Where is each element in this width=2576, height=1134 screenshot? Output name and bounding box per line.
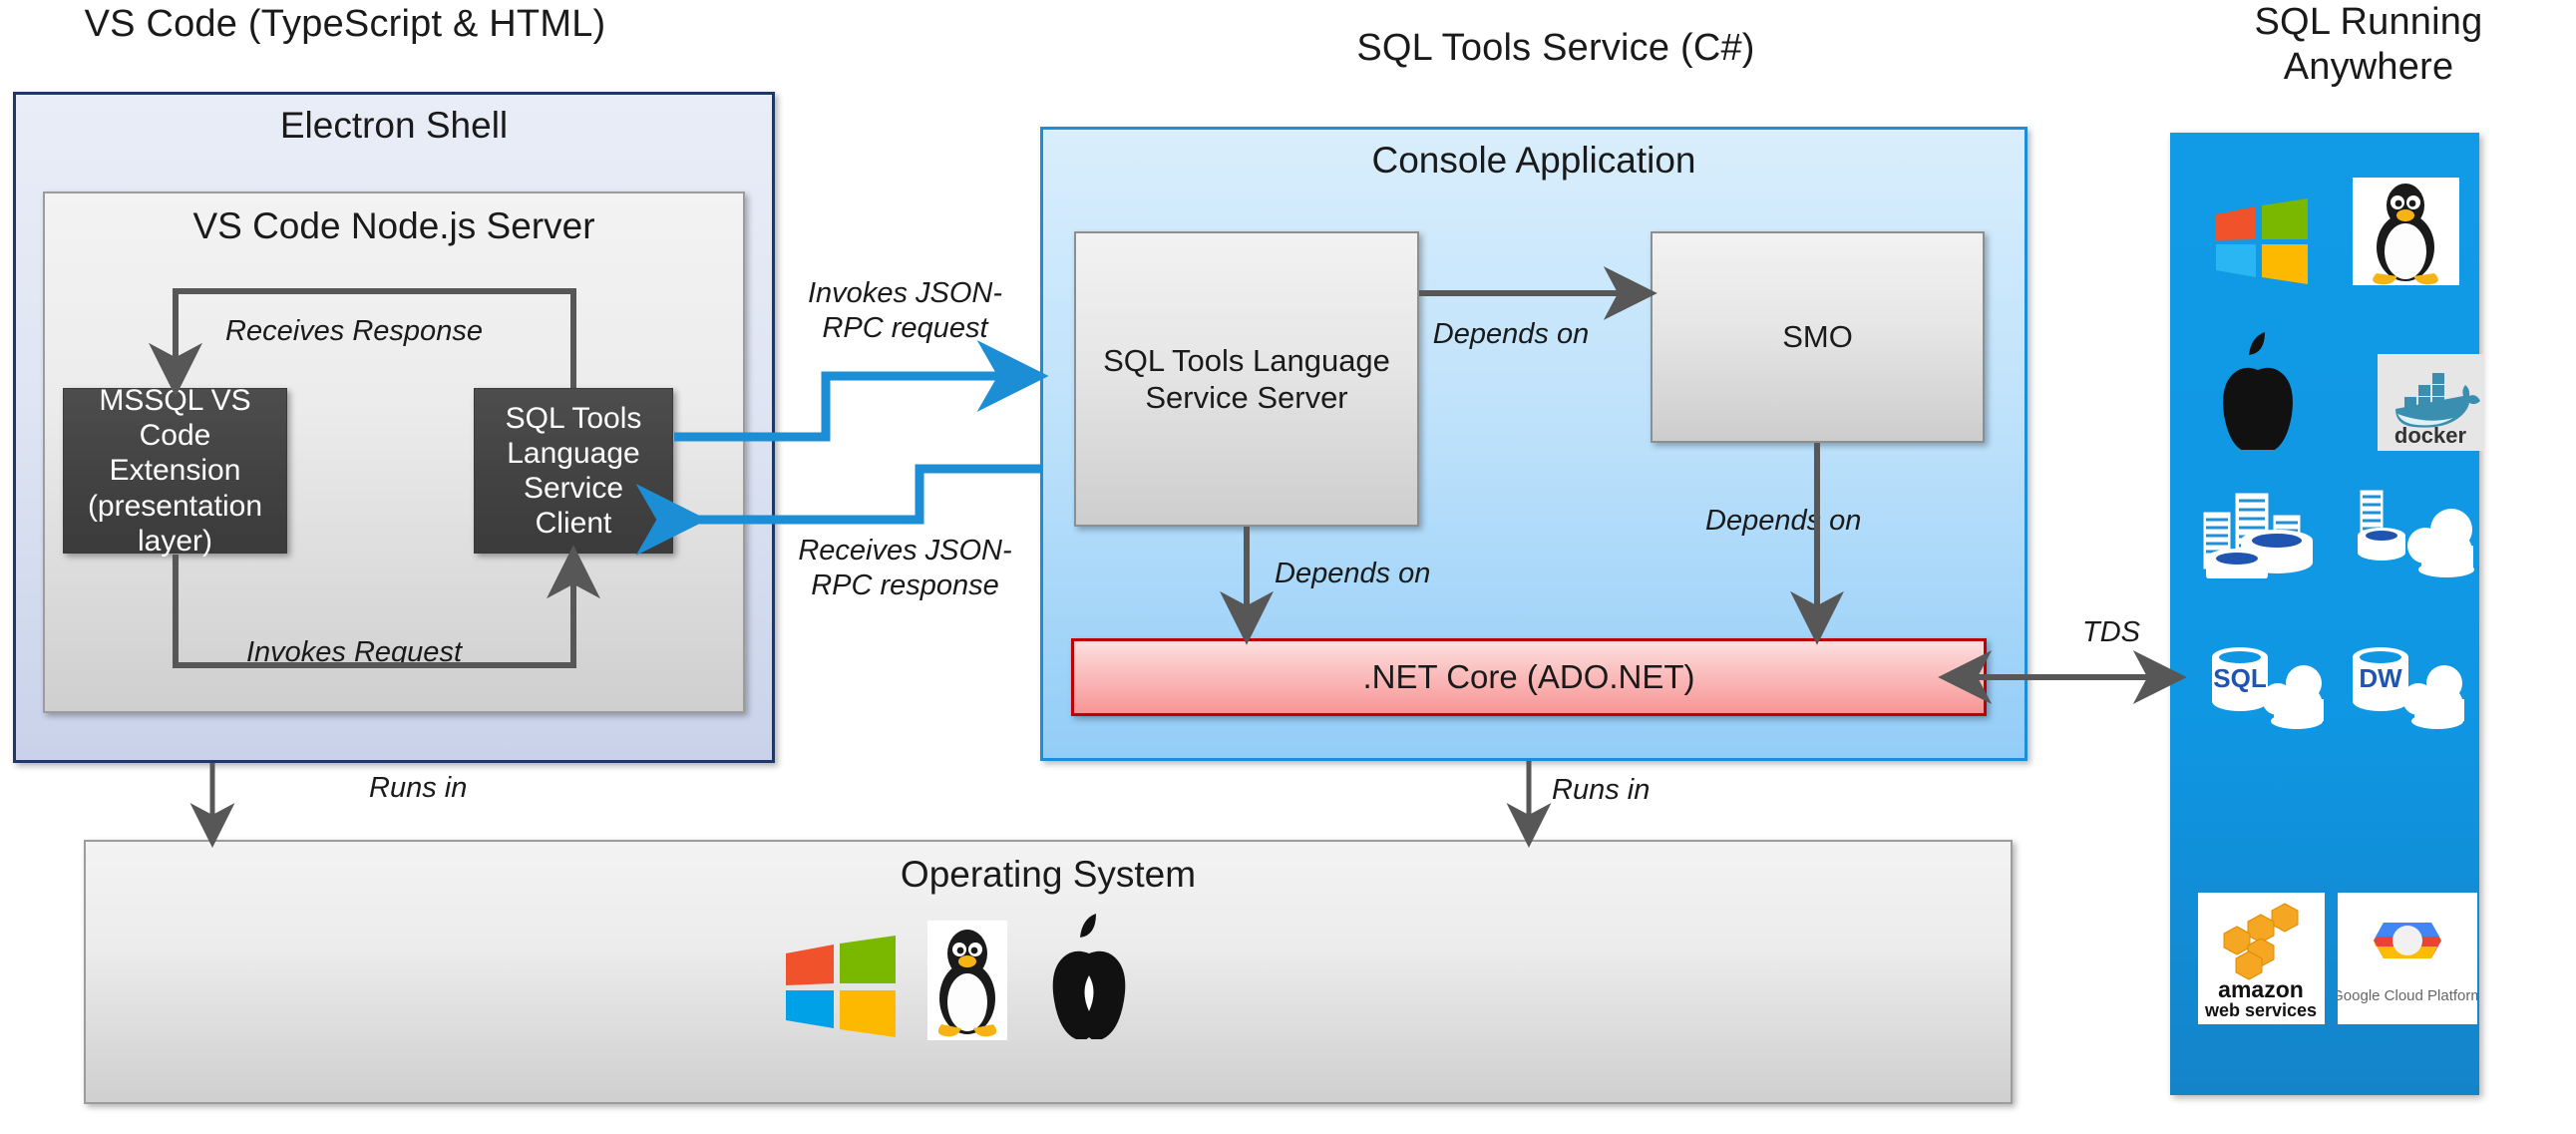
vscode-runs-in-label: Runs in	[369, 771, 568, 806]
sql-tools-language-service-server-label: SQL Tools Language Service Server	[1076, 342, 1417, 416]
azure-sql-label: SQL	[2213, 663, 2267, 693]
google-cloud-platform-icon: Google Cloud Platform	[2338, 893, 2477, 1024]
invokes-request-label: Invokes Request	[214, 635, 494, 670]
sql-tools-language-service-server-box[interactable]: SQL Tools Language Service Server	[1074, 231, 1419, 527]
sqltools-runs-in-label: Runs in	[1552, 773, 1731, 808]
dotnet-core-ado-net-box[interactable]: .NET Core (ADO.NET)	[1071, 638, 1987, 716]
azure-sql-database-icon: SQL	[2200, 643, 2332, 740]
receives-response-label: Receives Response	[214, 314, 494, 349]
smo-label: SMO	[1782, 318, 1853, 355]
mssql-vscode-extension-box[interactable]: MSSQL VS Code Extension (presentation la…	[63, 388, 287, 554]
depends-on-dotnet-left-label: Depends on	[1275, 557, 1474, 591]
depends-on-smo-label: Depends on	[1431, 317, 1591, 352]
azure-sql-data-warehouse-icon: DW	[2339, 643, 2473, 740]
aws-label-amazon: amazon	[2218, 976, 2304, 1002]
gcp-label: Google Cloud Platform	[2338, 987, 2477, 1004]
windows-logo-icon	[786, 936, 896, 1037]
azure-dw-label: DW	[2359, 663, 2402, 693]
depends-on-dotnet-right-label: Depends on	[1705, 504, 1905, 539]
aws-label-webservices: web services	[2204, 1000, 2317, 1020]
smo-box[interactable]: SMO	[1651, 231, 1985, 443]
apple-logo-icon	[1039, 914, 1139, 1039]
dotnet-core-ado-net-label: .NET Core (ADO.NET)	[1362, 658, 1694, 696]
operating-system-title: Operating System	[86, 854, 2011, 896]
mssql-vscode-extension-label: MSSQL VS Code Extension (presentation la…	[72, 383, 278, 558]
vscode-nodejs-server-title: VS Code Node.js Server	[45, 205, 743, 247]
architecture-diagram: VS Code (TypeScript & HTML) SQL Tools Se…	[0, 0, 2576, 1134]
sql-tools-language-service-client-label: SQL Tools Language Service Client	[483, 401, 664, 541]
invokes-json-rpc-request-label: Invokes JSON-RPC request	[798, 276, 1012, 346]
apple-logo-icon	[2210, 332, 2306, 450]
caption-vscode: VS Code (TypeScript & HTML)	[26, 2, 664, 47]
console-application-title: Console Application	[1043, 140, 2024, 182]
sql-tools-language-service-client-box[interactable]: SQL Tools Language Service Client	[474, 388, 673, 554]
on-premises-datacenter-icon	[2199, 479, 2329, 578]
docker-whale-icon: docker	[2378, 354, 2483, 451]
linux-penguin-icon	[2353, 178, 2459, 285]
windows-logo-icon	[2216, 198, 2308, 284]
tds-label: TDS	[2066, 615, 2156, 650]
docker-label: docker	[2394, 423, 2467, 448]
caption-sql-running-anywhere: SQL Running Anywhere	[2174, 0, 2563, 90]
hybrid-cloud-icon	[2352, 484, 2476, 578]
electron-shell-title: Electron Shell	[16, 105, 772, 147]
amazon-web-services-icon: amazon web services	[2198, 893, 2325, 1024]
caption-sql-tools-service: SQL Tools Service (C#)	[997, 26, 2114, 71]
linux-penguin-icon	[927, 921, 1007, 1040]
receives-json-rpc-response-label: Receives JSON-RPC response	[793, 534, 1017, 603]
